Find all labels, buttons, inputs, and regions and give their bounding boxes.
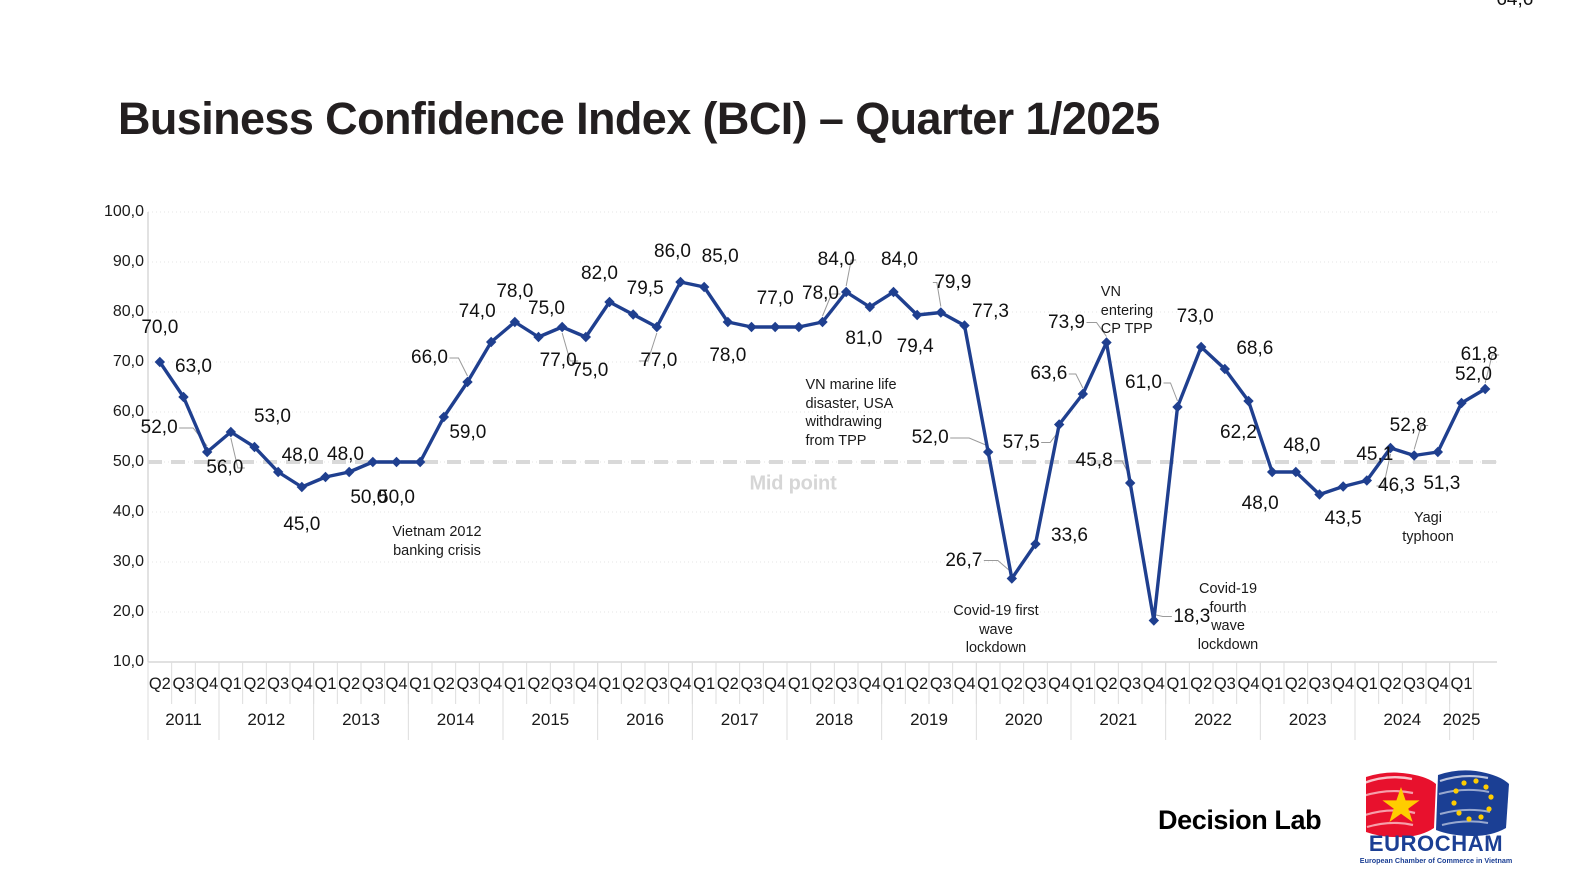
x-tick-quarter-label: Q1: [1356, 675, 1378, 694]
data-point-value-label: 86,0: [654, 241, 691, 263]
x-tick-quarter-label: Q4: [1237, 675, 1259, 694]
data-point-marker: [1101, 337, 1111, 347]
data-point-value-label: 53,0: [254, 406, 291, 428]
x-tick-quarter-label: Q1: [598, 675, 620, 694]
x-tick-quarter-label: Q1: [1261, 675, 1283, 694]
data-point-value-label: 79,5: [627, 278, 664, 300]
x-tick-quarter-label: Q3: [551, 675, 573, 694]
data-point-marker: [770, 322, 780, 332]
x-tick-quarter-label: Q4: [1143, 675, 1165, 694]
data-point-value-label: 50,0: [378, 487, 415, 509]
x-tick-quarter-label: Q4: [480, 675, 502, 694]
data-point-value-label: 82,0: [581, 263, 618, 285]
x-axis-year-label: 2015: [531, 710, 569, 730]
x-tick-quarter-label: Q2: [433, 675, 455, 694]
data-point-value-label: 84,0: [818, 249, 855, 271]
x-tick-quarter-label: Q3: [1119, 675, 1141, 694]
x-tick-quarter-label: Q4: [859, 675, 881, 694]
data-point-marker: [1172, 402, 1182, 412]
y-tick-label: 30,0: [84, 553, 144, 571]
x-axis-year-label: 2012: [247, 710, 285, 730]
data-point-value-label: 77,0: [757, 288, 794, 310]
data-point-marker: [1149, 615, 1159, 625]
chart-canvas: [0, 0, 1590, 894]
x-tick-quarter-label: Q3: [1308, 675, 1330, 694]
label-leader-line: [1154, 615, 1172, 617]
data-point-value-label: 48,0: [1242, 493, 1279, 515]
x-tick-quarter-label: Q4: [196, 675, 218, 694]
y-tick-label: 80,0: [84, 303, 144, 321]
x-tick-quarter-label: Q4: [1048, 675, 1070, 694]
data-point-marker: [344, 467, 354, 477]
x-tick-quarter-label: Q3: [1214, 675, 1236, 694]
x-tick-quarter-label: Q3: [456, 675, 478, 694]
eurocham-logo: EUROCHAM European Chamber of Commerce in…: [1360, 763, 1512, 871]
data-point-marker: [1125, 478, 1135, 488]
x-tick-quarter-label: Q1: [220, 675, 242, 694]
data-point-value-label: 63,0: [175, 356, 212, 378]
data-point-value-label: 78,0: [709, 345, 746, 367]
x-tick-quarter-label: Q3: [172, 675, 194, 694]
data-point-value-label: 52,8: [1390, 415, 1427, 437]
eurocham-tagline: European Chamber of Commerce in Vietnam: [1360, 856, 1512, 865]
x-tick-quarter-label: Q2: [1379, 675, 1401, 694]
y-tick-label: 40,0: [84, 503, 144, 521]
data-point-value-label: 48,0: [327, 444, 364, 466]
data-point-marker: [1338, 481, 1348, 491]
x-axis-year-label: 2017: [721, 710, 759, 730]
eurocham-wordmark: EUROCHAM: [1369, 831, 1503, 856]
x-tick-quarter-label: Q3: [362, 675, 384, 694]
data-point-value-label: 75,0: [571, 360, 608, 382]
x-tick-quarter-label: Q4: [764, 675, 786, 694]
x-tick-quarter-label: Q1: [1072, 675, 1094, 694]
label-leader-line: [1069, 374, 1083, 388]
label-leader-line: [450, 358, 468, 376]
x-axis-year-label: 2022: [1194, 710, 1232, 730]
data-point-value-label: 51,3: [1423, 473, 1460, 495]
x-axis-year-label: 2020: [1005, 710, 1043, 730]
x-tick-quarter-label: Q4: [953, 675, 975, 694]
x-tick-quarter-label: Q2: [149, 675, 171, 694]
x-tick-quarter-label: Q3: [646, 675, 668, 694]
x-tick-quarter-label: Q1: [882, 675, 904, 694]
x-axis-year-label: 2013: [342, 710, 380, 730]
data-point-value-label: 79,9: [934, 272, 971, 294]
x-axis-year-label: 2014: [437, 710, 475, 730]
x-tick-quarter-label: Q1: [693, 675, 715, 694]
x-tick-quarter-label: Q3: [930, 675, 952, 694]
data-point-value-label: 79,4: [897, 336, 934, 358]
data-point-value-label: 45,0: [283, 514, 320, 536]
x-tick-quarter-label: Q2: [243, 675, 265, 694]
x-tick-quarter-label: Q2: [338, 675, 360, 694]
x-tick-quarter-label: Q4: [1427, 675, 1449, 694]
x-axis-year-label: 2021: [1099, 710, 1137, 730]
data-point-value-label: 48,0: [1283, 435, 1320, 457]
data-point-value-label: 84,0: [881, 249, 918, 271]
data-point-marker: [368, 457, 378, 467]
x-tick-quarter-label: Q1: [1450, 675, 1472, 694]
chart-page: Business Confidence Index (BCI) – Quarte…: [0, 0, 1590, 894]
data-point-value-label: 68,6: [1236, 338, 1273, 360]
x-tick-quarter-label: Q1: [788, 675, 810, 694]
x-axis-year-label: 2024: [1383, 710, 1421, 730]
x-axis-year-label: 2019: [910, 710, 948, 730]
x-tick-quarter-label: Q4: [575, 675, 597, 694]
data-point-value-label: 45,8: [1076, 450, 1113, 472]
annotation-covid-fourth-wave: Covid-19 fourth wave lockdown: [1198, 580, 1258, 654]
x-axis-year-label: 2011: [165, 710, 202, 730]
data-point-value-label: 62,2: [1220, 422, 1257, 444]
x-tick-quarter-label: Q1: [1166, 675, 1188, 694]
data-point-value-label: 78,0: [802, 283, 839, 305]
x-tick-quarter-label: Q2: [1190, 675, 1212, 694]
data-point-value-label: 48,0: [282, 445, 319, 467]
y-tick-label: 60,0: [84, 403, 144, 421]
midpoint-label: Mid point: [749, 473, 836, 496]
y-tick-label: 70,0: [84, 353, 144, 371]
data-point-value-label: 64,6: [1496, 0, 1533, 11]
x-tick-quarter-label: Q2: [1001, 675, 1023, 694]
annotation-vietnam-banking-crisis: Vietnam 2012 banking crisis: [392, 523, 481, 560]
x-tick-quarter-label: Q4: [1332, 675, 1354, 694]
annotation-yagi-typhoon: Yagi typhoon: [1402, 509, 1454, 546]
data-point-value-label: 52,0: [912, 427, 949, 449]
data-point-value-label: 26,7: [945, 550, 982, 572]
data-point-value-label: 52,0: [141, 417, 178, 439]
x-tick-quarter-label: Q4: [291, 675, 313, 694]
data-point-value-label: 81,0: [845, 328, 882, 350]
x-tick-quarter-label: Q3: [740, 675, 762, 694]
data-point-value-label: 59,0: [449, 422, 486, 444]
data-point-value-label: 85,0: [702, 246, 739, 268]
label-leader-line: [950, 438, 988, 446]
x-axis-year-label: 2025: [1443, 710, 1481, 730]
x-tick-quarter-label: Q1: [977, 675, 999, 694]
x-tick-quarter-label: Q3: [835, 675, 857, 694]
y-tick-label: 50,0: [84, 453, 144, 471]
data-point-value-label: 70,0: [141, 317, 178, 339]
x-tick-quarter-label: Q3: [1403, 675, 1425, 694]
data-point-value-label: 66,0: [411, 347, 448, 369]
vietnam-flag-brush: [1363, 773, 1436, 838]
x-tick-quarter-label: Q3: [1024, 675, 1046, 694]
data-point-value-label: 46,3: [1378, 475, 1415, 497]
data-point-value-label: 73,0: [1177, 306, 1214, 328]
y-tick-label: 100,0: [84, 203, 144, 221]
data-point-marker: [1267, 467, 1277, 477]
x-axis-year-label: 2018: [815, 710, 853, 730]
x-tick-quarter-label: Q1: [409, 675, 431, 694]
x-axis-year-label: 2016: [626, 710, 664, 730]
data-point-value-label: 45,1: [1356, 444, 1393, 466]
y-tick-label: 90,0: [84, 253, 144, 271]
annotation-vn-entering-cptpp: VN entering CP TPP: [1101, 283, 1153, 339]
data-point-marker: [557, 322, 567, 332]
x-axis-year-label: 2023: [1289, 710, 1327, 730]
x-tick-quarter-label: Q4: [385, 675, 407, 694]
data-point-marker: [983, 447, 993, 457]
data-point-value-label: 43,5: [1325, 508, 1362, 530]
data-point-value-label: 61,0: [1125, 372, 1162, 394]
x-tick-quarter-label: Q3: [267, 675, 289, 694]
data-point-value-label: 33,6: [1051, 525, 1088, 547]
data-point-value-label: 77,0: [640, 350, 677, 372]
x-tick-quarter-label: Q1: [314, 675, 336, 694]
data-point-marker: [320, 472, 330, 482]
data-point-value-label: 77,3: [972, 301, 1009, 323]
x-tick-quarter-label: Q2: [717, 675, 739, 694]
data-point-marker: [746, 322, 756, 332]
annotation-covid-first-wave: Covid-19 first wave lockdown: [953, 602, 1038, 658]
x-tick-quarter-label: Q2: [1285, 675, 1307, 694]
data-point-value-label: 61,8: [1461, 344, 1498, 366]
y-tick-label: 10,0: [84, 653, 144, 671]
x-tick-quarter-label: Q2: [1095, 675, 1117, 694]
x-tick-quarter-label: Q2: [811, 675, 833, 694]
x-tick-quarter-label: Q2: [527, 675, 549, 694]
x-tick-quarter-label: Q2: [906, 675, 928, 694]
data-point-value-label: 73,9: [1048, 312, 1085, 334]
annotation-vn-marine-life-disaster: VN marine life disaster, USA withdrawing…: [805, 376, 896, 450]
data-point-value-label: 74,0: [459, 301, 496, 323]
label-leader-line: [1164, 383, 1178, 401]
data-point-value-label: 56,0: [206, 457, 243, 479]
eu-flag-brush: [1436, 770, 1509, 836]
data-point-marker: [1409, 450, 1419, 460]
y-tick-label: 20,0: [84, 603, 144, 621]
data-point-value-label: 63,6: [1030, 363, 1067, 385]
data-point-marker: [794, 322, 804, 332]
data-point-marker: [391, 457, 401, 467]
data-point-value-label: 75,0: [528, 298, 565, 320]
data-point-value-label: 57,5: [1003, 432, 1040, 454]
data-point-value-label: 52,0: [1455, 364, 1492, 386]
x-tick-quarter-label: Q4: [669, 675, 691, 694]
x-tick-quarter-label: Q1: [504, 675, 526, 694]
decision-lab-logo: Decision Lab: [1158, 805, 1321, 836]
x-tick-quarter-label: Q2: [622, 675, 644, 694]
